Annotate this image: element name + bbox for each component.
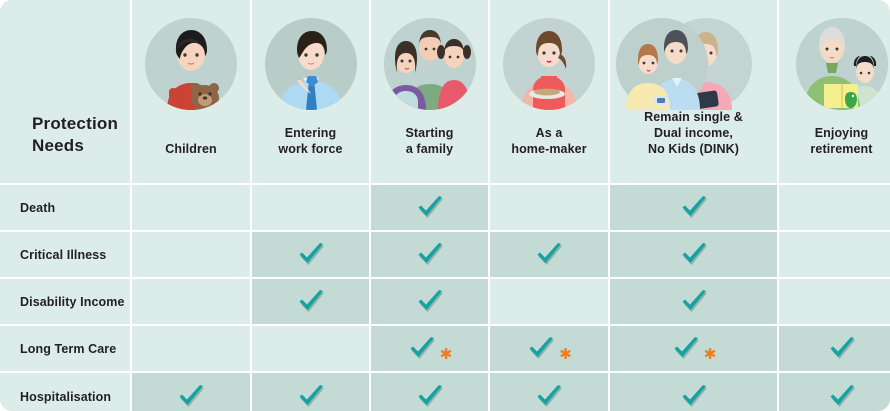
row-header-death: Death [0, 185, 130, 230]
cell-mark-hospital-dink [610, 373, 777, 411]
page-title: ProtectionNeeds [0, 0, 130, 183]
cell-longtermcare-workforce[interactable] [252, 326, 369, 371]
cell-mark-critical-family [371, 232, 488, 277]
cell-mark-longtermcare-family: ✱ [371, 326, 488, 371]
cell-mark-disability-family [371, 279, 488, 324]
couple-and-single-woman-avatar-wrap [610, 18, 777, 110]
check-icon [827, 382, 857, 411]
asterisk-icon: ✱ [704, 347, 717, 362]
cell-hospital-homemaker[interactable] [490, 373, 608, 411]
grandfather-reading-with-child-avatar-wrap [779, 18, 890, 110]
cell-death-workforce[interactable] [252, 185, 369, 230]
column-header-retirement: Enjoyingretirement [779, 0, 890, 183]
row-header-hospital: Hospitalisation [0, 373, 130, 411]
cell-mark-disability-workforce [252, 279, 369, 324]
cell-hospital-dink[interactable] [610, 373, 777, 411]
cell-mark-critical-workforce [252, 232, 369, 277]
cell-disability-dink[interactable] [610, 279, 777, 324]
cell-disability-children[interactable] [132, 279, 250, 324]
check-icon [534, 382, 564, 411]
check-icon [415, 287, 445, 317]
cell-death-homemaker[interactable] [490, 185, 608, 230]
column-header-homemaker: As ahome-maker [490, 0, 608, 183]
grandfather-reading-with-child-avatar [796, 18, 888, 110]
cell-hospital-retirement[interactable] [779, 373, 890, 411]
cell-mark-hospital-homemaker [490, 373, 608, 411]
row-header-label-disability: Disability Income [20, 295, 125, 309]
cell-death-retirement[interactable] [779, 185, 890, 230]
cell-mark-longtermcare-retirement [779, 326, 890, 371]
cell-death-dink[interactable] [610, 185, 777, 230]
check-icon [827, 334, 857, 364]
column-header-dink: Remain single &Dual income,No Kids (DINK… [610, 0, 777, 183]
check-icon [176, 382, 206, 411]
cell-mark-disability-dink [610, 279, 777, 324]
young-man-in-shirt-and-tie-avatar [265, 18, 357, 110]
woman-with-dish-avatar [503, 18, 595, 110]
cell-mark-longtermcare-homemaker: ✱ [490, 326, 608, 371]
cell-mark-death-family [371, 185, 488, 230]
cell-mark-critical-homemaker [490, 232, 608, 277]
check-icon [407, 334, 437, 364]
matrix-grid: ProtectionNeeds Children [0, 0, 890, 411]
check-icon [415, 193, 445, 223]
column-header-family: Startinga family [371, 0, 488, 183]
cell-critical-homemaker[interactable] [490, 232, 608, 277]
column-header-label-family: Startinga family [405, 125, 453, 157]
cell-longtermcare-retirement[interactable] [779, 326, 890, 371]
check-icon [296, 287, 326, 317]
cell-longtermcare-family[interactable]: ✱ [371, 326, 488, 371]
cell-longtermcare-dink[interactable]: ✱ [610, 326, 777, 371]
cell-hospital-family[interactable] [371, 373, 488, 411]
cell-death-children[interactable] [132, 185, 250, 230]
child-with-teddy-bear-avatar [145, 18, 237, 110]
cell-longtermcare-homemaker[interactable]: ✱ [490, 326, 608, 371]
family-with-children-avatar [384, 18, 476, 110]
check-icon [534, 240, 564, 270]
cell-disability-homemaker[interactable] [490, 279, 608, 324]
cell-critical-children[interactable] [132, 232, 250, 277]
cell-mark-hospital-workforce [252, 373, 369, 411]
check-icon [415, 382, 445, 411]
row-header-longtermcare: Long Term Care [0, 326, 130, 371]
check-icon [679, 193, 709, 223]
column-header-label-homemaker: As ahome-maker [511, 125, 586, 157]
young-man-in-shirt-and-tie-avatar-wrap [252, 18, 369, 110]
asterisk-icon: ✱ [559, 347, 572, 362]
woman-with-dish-avatar-wrap [490, 18, 608, 110]
cell-disability-retirement[interactable] [779, 279, 890, 324]
row-header-label-hospital: Hospitalisation [20, 390, 111, 404]
cell-longtermcare-children[interactable] [132, 326, 250, 371]
cell-critical-retirement[interactable] [779, 232, 890, 277]
row-header-disability: Disability Income [0, 279, 130, 324]
cell-critical-family[interactable] [371, 232, 488, 277]
check-icon [415, 240, 445, 270]
check-icon [679, 287, 709, 317]
check-icon [671, 334, 701, 364]
row-header-label-death: Death [20, 201, 55, 215]
page-title-text: ProtectionNeeds [32, 113, 118, 157]
cell-mark-critical-dink [610, 232, 777, 277]
column-header-children: Children [132, 0, 250, 183]
column-header-label-retirement: Enjoyingretirement [810, 125, 872, 157]
check-icon [296, 382, 326, 411]
cell-mark-death-dink [610, 185, 777, 230]
cell-disability-family[interactable] [371, 279, 488, 324]
cell-critical-dink[interactable] [610, 232, 777, 277]
check-icon [679, 240, 709, 270]
couple-and-single-woman-avatar [614, 18, 774, 110]
cell-hospital-workforce[interactable] [252, 373, 369, 411]
cell-death-family[interactable] [371, 185, 488, 230]
check-icon [296, 240, 326, 270]
cell-critical-workforce[interactable] [252, 232, 369, 277]
column-header-label-workforce: Enteringwork force [278, 125, 342, 157]
asterisk-icon: ✱ [440, 347, 453, 362]
column-header-label-children: Children [165, 141, 217, 157]
cell-mark-hospital-family [371, 373, 488, 411]
child-with-teddy-bear-avatar-wrap [132, 18, 250, 110]
family-with-children-avatar-wrap [371, 18, 488, 110]
row-header-label-longtermcare: Long Term Care [20, 342, 116, 356]
column-header-workforce: Enteringwork force [252, 0, 369, 183]
protection-needs-matrix: ProtectionNeeds Children [0, 0, 890, 411]
cell-mark-longtermcare-dink: ✱ [610, 326, 777, 371]
row-header-label-critical: Critical Illness [20, 248, 106, 262]
column-header-label-dink: Remain single &Dual income,No Kids (DINK… [644, 109, 743, 157]
cell-mark-hospital-children [132, 373, 250, 411]
row-header-critical: Critical Illness [0, 232, 130, 277]
check-icon [526, 334, 556, 364]
check-icon [679, 382, 709, 411]
cell-mark-hospital-retirement [779, 373, 890, 411]
cell-disability-workforce[interactable] [252, 279, 369, 324]
cell-hospital-children[interactable] [132, 373, 250, 411]
